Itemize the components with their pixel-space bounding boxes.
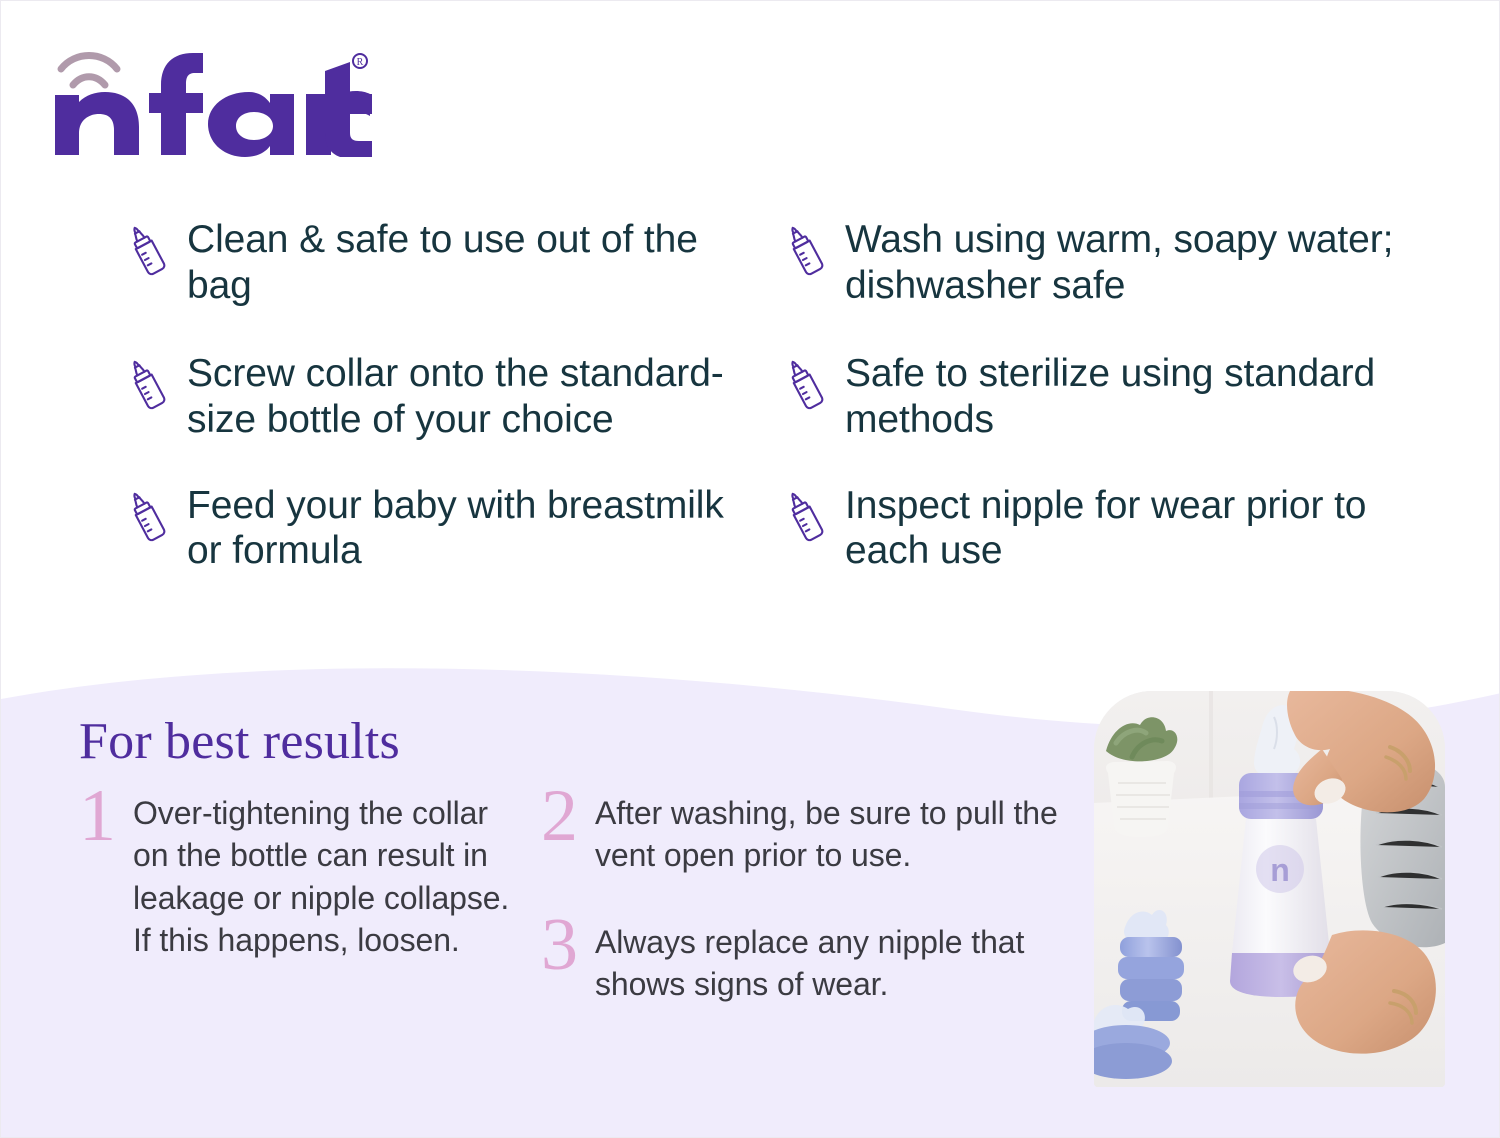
baby-bottle-icon	[779, 357, 831, 413]
feature-item: Feed your baby with breastmilk or formul…	[121, 483, 769, 574]
tip-item: 2 After washing, be sure to pull the ven…	[541, 792, 1061, 877]
registered-trademark-icon: R	[353, 54, 367, 68]
tip-text: After washing, be sure to pull the vent …	[595, 792, 1061, 877]
feature-item: Inspect nipple for wear prior to each us…	[779, 483, 1427, 574]
feature-text: Safe to sterilize using standard methods	[845, 351, 1405, 442]
feature-item: Clean & safe to use out of the bag	[121, 217, 769, 308]
feature-text: Clean & safe to use out of the bag	[187, 217, 747, 308]
tip-number: 3	[541, 917, 595, 975]
feature-text: Inspect nipple for wear prior to each us…	[845, 483, 1405, 574]
wifi-arc-icon	[61, 56, 117, 86]
tip-number: 1	[79, 788, 133, 846]
feature-item: Screw collar onto the standard-size bott…	[121, 351, 769, 442]
feature-text: Feed your baby with breastmilk or formul…	[187, 483, 747, 574]
product-photo: n Hands holding a purple and white nfant…	[1094, 691, 1445, 1087]
bottle-n-logo: n	[1256, 845, 1304, 893]
tip-text: Always replace any nipple that shows sig…	[595, 921, 1061, 1006]
best-results-heading: For best results	[79, 715, 1089, 770]
tips-grid: 1 Over-tightening the collar on the bott…	[79, 792, 1089, 1006]
feature-list: Clean & safe to use out of the bag S	[121, 217, 1421, 612]
baby-bottle-icon	[121, 223, 173, 279]
feature-text: Wash using warm, soapy water; dishwasher…	[845, 217, 1405, 308]
feature-text: Screw collar onto the standard-size bott…	[187, 351, 747, 442]
baby-bottle-icon	[121, 357, 173, 413]
tip-text: Over-tightening the collar on the bottle…	[133, 792, 519, 962]
tips-column-left: 1 Over-tightening the collar on the bott…	[79, 792, 519, 1006]
baby-bottle-icon	[121, 489, 173, 545]
brand-logo: R nfant ®	[53, 47, 373, 157]
tip-item: 3 Always replace any nipple that shows s…	[541, 921, 1061, 1006]
baby-bottle-icon	[779, 223, 831, 279]
svg-text:n: n	[1270, 852, 1290, 888]
feature-item: Wash using warm, soapy water; dishwasher…	[779, 217, 1427, 308]
potted-plant	[1106, 717, 1177, 837]
tip-item: 1 Over-tightening the collar on the bott…	[79, 792, 519, 962]
feature-column-left: Clean & safe to use out of the bag S	[121, 217, 769, 612]
infographic-page: R nfant ®	[0, 0, 1500, 1138]
svg-text:R: R	[357, 57, 364, 68]
tips-column-right: 2 After washing, be sure to pull the ven…	[541, 792, 1061, 1006]
tip-number: 2	[541, 788, 595, 846]
baby-bottle-icon	[779, 489, 831, 545]
feature-column-right: Wash using warm, soapy water; dishwasher…	[779, 217, 1427, 612]
best-results-section: For best results 1 Over-tightening the c…	[79, 715, 1089, 1006]
feature-item: Safe to sterilize using standard methods	[779, 351, 1427, 442]
